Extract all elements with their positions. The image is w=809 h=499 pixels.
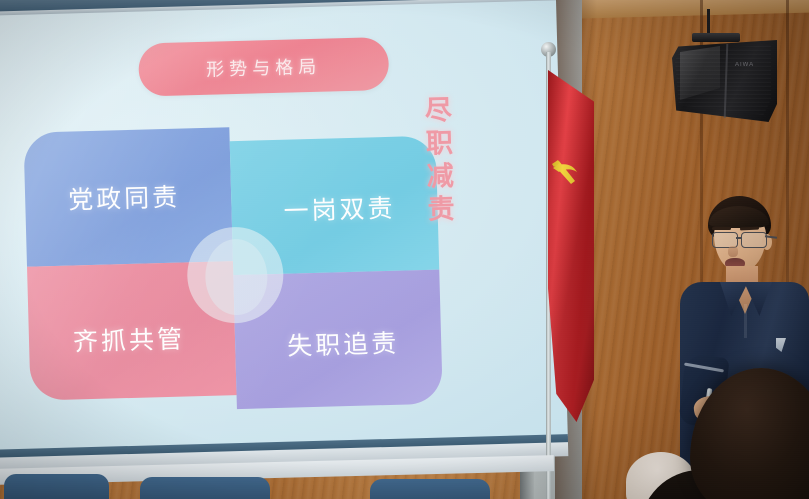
slide-content: 形势与格局 党政同责 一岗双责 齐抓共管 失职追责 尽职减责 xyxy=(0,0,568,451)
chair-back xyxy=(370,479,490,499)
eyeglass-lens-right xyxy=(741,232,767,248)
vertical-slogan: 尽职减责 xyxy=(417,95,460,228)
quadrant-bottom-left: 齐抓共管 xyxy=(27,261,237,401)
speaker-mount-plate xyxy=(692,33,740,42)
quadrant-label-bottom-right: 失职追责 xyxy=(287,324,400,363)
quadrant-top-right: 一岗双责 xyxy=(230,136,440,276)
party-flag-cloth xyxy=(548,70,594,422)
presenter-eyebrow-left xyxy=(712,227,731,230)
speaker-brand-label: AIWA xyxy=(735,62,754,68)
quadrant-top-left: 党政同责 xyxy=(23,127,233,267)
quadrant-label-top-left: 党政同责 xyxy=(68,178,181,217)
chair-back xyxy=(4,474,109,499)
quadrant-bottom-right: 失职追责 xyxy=(233,270,443,410)
eyeglasses-icon xyxy=(710,232,772,248)
speaker-mount-bracket xyxy=(707,9,710,36)
quadrant-label-bottom-left: 齐抓共管 xyxy=(73,319,186,358)
slide-title-pill: 形势与格局 xyxy=(138,37,389,97)
eyeglass-bridge xyxy=(736,237,742,239)
slide-title: 形势与格局 xyxy=(206,52,322,81)
presentation-photo-scene: 形势与格局 党政同责 一岗双责 齐抓共管 失职追责 尽职减责 xyxy=(0,0,809,499)
projection-screen: 形势与格局 党政同责 一岗双责 齐抓共管 失职追责 尽职减责 xyxy=(0,0,568,468)
presenter-shirt-placket xyxy=(744,304,747,338)
hammer-and-sickle-icon xyxy=(551,152,581,192)
chair-back xyxy=(140,477,270,499)
quadrant-label-top-right: 一岗双责 xyxy=(283,189,396,228)
quadrant-diagram: 党政同责 一岗双责 齐抓共管 失职追责 xyxy=(23,122,442,401)
presenter-nose xyxy=(728,246,738,257)
